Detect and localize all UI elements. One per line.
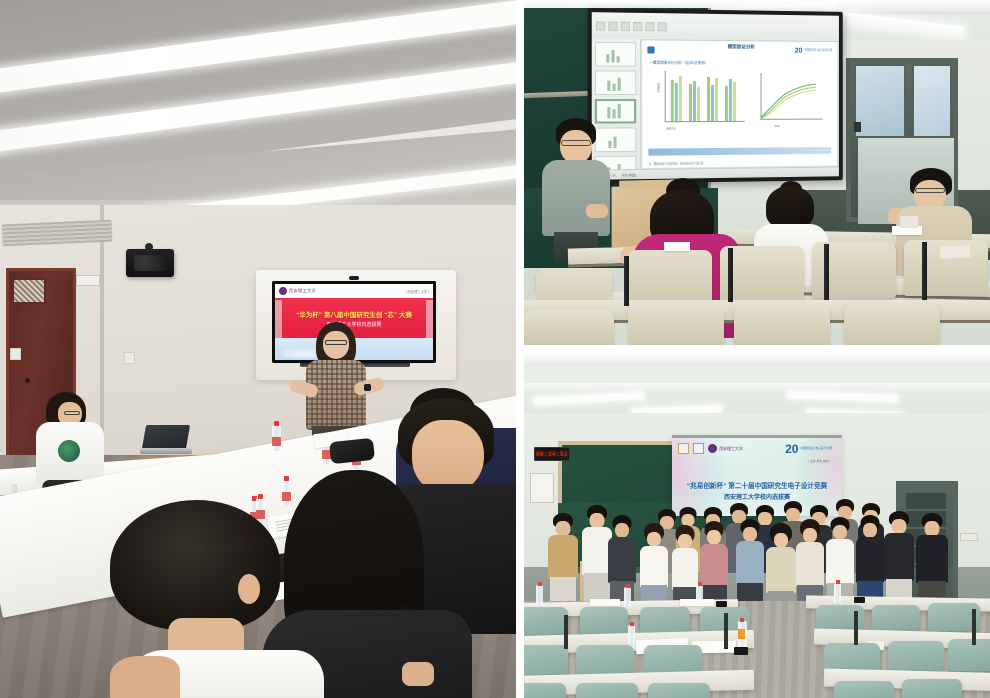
desk-leg [728,248,733,302]
chart-y-axis [665,71,666,122]
bar [679,76,682,121]
smartphone [854,597,865,603]
notebook [940,245,971,259]
shirt [916,535,948,583]
seat-back [576,683,638,698]
desk-leg [724,613,728,649]
competition-badge: 20 中国研究生 电子设计竞赛 [785,443,832,455]
led-clock-text: 08:34:52 [536,451,568,458]
bar [689,84,692,121]
projection-screen: 西安理工大学 20 中国研究生 电子设计竞赛 [ 主办 承办 协办 ] “兆易创… [672,435,842,516]
hands [586,204,608,218]
chart-x-label: 模型方法 [667,126,676,130]
seat-back [872,605,920,631]
face [892,519,907,534]
wall-led-clock: 08:34:52 [534,447,570,461]
paper-sheet [664,242,690,251]
wall-notice [530,473,554,503]
badge-number: 20 [785,443,798,455]
shirt [884,533,914,581]
face [774,533,788,548]
badge-number: 20 [795,47,803,54]
badge-text: 中国研究生 电子设计竞赛 [804,49,832,52]
slide-footer-bar [648,147,831,156]
photo-lecture-hall-presentation: 20 中国研究生 电子设计竞赛 模型验证分析 模型精度对比分析（区间/点预测） … [524,0,990,345]
seat-back [902,679,962,698]
desk-leg [824,244,829,300]
sponsor-logos: 西安理工大学 [678,443,743,454]
university-seal-icon [708,444,717,453]
university-logo: 西安理工大学 [279,287,316,295]
photo-group-shot: 08:34:52 西安理工大学 20 中国研究生 电子设计竞赛 [ 主办 承办 … [524,353,990,698]
university-seal-icon [279,287,287,295]
slide-header: 西安理工大学 [ 西安理工大学 ] [275,284,433,298]
university-logo: 西安理工大学 [708,444,743,453]
glasses-icon [325,340,347,345]
seat-back [948,639,990,671]
hair [110,500,280,630]
university-name: 西安理工大学 [289,288,316,294]
face [707,530,721,545]
glasses-icon [64,411,80,415]
ribbon-button[interactable] [608,22,617,31]
juice-bottle [738,621,747,647]
bar [707,77,710,121]
arm [110,656,180,698]
laptop-screen [142,425,190,449]
sponsor-logo-icon [678,443,689,454]
ribbon-button[interactable] [645,22,654,31]
seat-back [834,681,894,698]
badge-text: 中国研究生 电子设计竞赛 [800,447,832,450]
face [560,130,592,164]
seat-back [734,304,830,345]
panel-divider [524,345,990,353]
ceiling-beam [524,383,990,393]
door-window [854,64,906,138]
shirt [796,542,824,587]
shirt [608,537,636,583]
water-bottle [834,583,841,603]
paper-sheet [590,599,620,606]
ribbon-button[interactable] [658,22,667,31]
hair [766,186,814,228]
shirt [736,541,764,586]
wall-socket [960,533,978,541]
presenter-man [542,118,612,258]
bar [711,85,714,121]
group-person [548,513,578,609]
slide-footnote: 注：数据来源于实验测试，指标按标准方法计算 [648,161,703,166]
projection-screen-frame: 20 中国研究生 电子设计竞赛 模型验证分析 模型精度对比分析（区间/点预测） … [588,8,843,184]
door-switch [854,122,861,132]
ribbon-button[interactable] [596,21,605,30]
competition-badge: 20 中国研究生 电子设计竞赛 [795,47,833,54]
banner-title: “兆易创新杯” 第二十届中国研究生电子设计竞赛 [672,480,842,490]
chart-x-label: Scale [774,126,780,128]
slide-thumbnail[interactable] [595,70,636,95]
desk-leg [972,609,976,645]
shirt [856,537,884,583]
bag [329,438,375,464]
water-bottle [624,587,631,607]
panel-divider [516,0,524,698]
door-handle [25,378,30,383]
bar [729,79,732,121]
slide-meta: [ 西安理工大学 ] [406,289,429,294]
ribbon-button[interactable] [633,22,642,31]
slide-line-chart: Scale [753,71,825,129]
university-name: 西安理工大学 [719,446,743,452]
language-indicator: 中文(中国) [622,173,636,177]
bar [725,86,728,121]
ear [238,574,260,604]
face [615,523,629,538]
notebook [900,216,918,228]
glasses-icon [561,140,591,146]
wristwatch [364,384,371,391]
smartphone [734,647,748,655]
ceiling-speaker [126,249,174,277]
bar [715,78,718,121]
door-window [912,64,952,138]
bar [697,87,700,121]
seat-back [888,641,944,673]
slide-thumbnail[interactable] [595,42,636,67]
seat-back [628,306,724,345]
photo-collage: 西安理工大学 [ 西安理工大学 ] “华为杯” 第八届中国研究生创 “芯” 大赛… [0,0,990,698]
face [833,525,847,540]
face [323,331,349,359]
wall-socket [124,352,135,364]
desk-leg [564,615,568,649]
water-bottle [536,585,543,605]
face [678,534,692,549]
photo-seminar-room: 西安理工大学 [ 西安理工大学 ] “华为杯” 第八届中国研究生创 “芯” 大赛… [0,0,516,698]
glasses-icon [915,188,945,193]
slide-bar-chart: 误差指标 [655,69,747,132]
seat-back [580,607,628,635]
blouse [700,544,728,588]
banner-subtitle: 西安理工大学校内选拔赛 [672,492,842,501]
bar [693,81,696,121]
laptop-keyboard [140,448,192,454]
wall-plate [76,275,100,286]
seat-back [524,683,566,698]
display-camera [349,276,359,280]
logo-mark-icon [647,46,654,53]
white-shirt [640,546,668,588]
ribbon-buttons[interactable] [596,21,667,31]
wall-socket [10,348,21,360]
water-bottle [272,425,281,451]
chart-y-label: 误差指标 [656,83,660,92]
desk-leg [624,256,629,306]
line-series-svg [753,71,825,129]
seat-back [844,302,940,345]
ribbon-button[interactable] [621,22,630,31]
paper-sheet [680,599,714,606]
door-grille [12,278,46,304]
face [863,523,877,538]
face [647,532,661,547]
competition-title: “华为杯” 第八届中国研究生创 “芯” 大赛 [296,309,412,319]
badge-meta: [ 主办 承办 协办 ] [809,459,830,463]
sponsor-logo-icon [693,443,704,454]
slide-canvas: 20 中国研究生 电子设计竞赛 模型验证分析 模型精度对比分析（区间/点预测） … [642,40,837,168]
seat-back [648,683,710,698]
group-person [608,515,636,611]
bar [675,83,678,121]
seat-back [524,607,568,635]
bar [733,82,736,121]
hand [402,662,434,686]
slide-side-strip [275,300,282,338]
seat-back [524,310,614,345]
shirt [766,547,796,593]
slide-bullet: 模型精度对比分析（区间/点预测） [650,61,708,66]
face [803,528,817,543]
polo-shirt [542,160,610,236]
white-top [672,548,698,590]
laptop [140,425,188,455]
ceiling-beam [524,353,990,367]
powerpoint-ribbon[interactable] [592,12,839,42]
slide-logo [647,46,654,53]
slide-title: 模型验证分析 [728,44,755,50]
white-shirt [826,539,854,585]
desk-leg [854,611,858,645]
shirt [548,535,578,579]
desk-leg [922,242,927,300]
foreground-person-white-shirt [110,500,290,698]
projection-screen: 20 中国研究生 电子设计竞赛 模型验证分析 模型精度对比分析（区间/点预测） … [592,12,839,180]
slide-side-strip [426,300,433,338]
tshirt-graphic [58,440,80,462]
face [743,527,757,542]
bar [671,80,674,121]
